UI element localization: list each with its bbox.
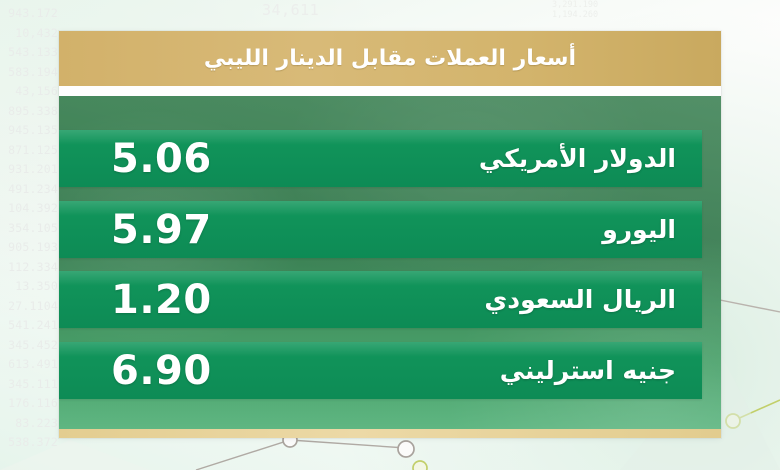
background-number: 871.125 [8, 141, 58, 161]
background-number: 43,156 [15, 82, 58, 102]
rates-list: 5.06 الدولار الأمريكي 5.97 اليورو 1.20 ا… [59, 96, 721, 438]
rate-row: 1.20 الريال السعودي [59, 271, 702, 328]
currency-name: الدولار الأمريكي [479, 146, 702, 171]
background-number: 3,291.190 [552, 0, 598, 10]
background-number: 104.392 [8, 199, 58, 219]
rate-value: 5.06 [59, 139, 212, 179]
background-number: 83.223 [15, 414, 58, 434]
background-left-numbers: 943.17210,432543.133583.19443,156895.338… [0, 0, 58, 470]
currency-name: جنيه استرليني [500, 358, 702, 383]
background-number: 112.334 [8, 258, 58, 278]
background-top-number: 34,611 [262, 1, 319, 19]
rate-row: 6.90 جنيه استرليني [59, 342, 702, 399]
background-number: 895.338 [8, 102, 58, 122]
card-header: أسعار العملات مقابل الدينار الليبي [59, 31, 721, 86]
background-number: 583.194 [8, 63, 58, 83]
background-number: 931.201 [8, 160, 58, 180]
background-number: 345.111 [8, 375, 58, 395]
background-number: 543.133 [8, 43, 58, 63]
background-number: 13.350 [15, 277, 58, 297]
rate-value: 6.90 [59, 351, 212, 391]
rate-value: 5.97 [59, 210, 212, 250]
background-number: 345.452 [8, 336, 58, 356]
currency-rates-card: أسعار العملات مقابل الدينار الليبي 5.06 … [59, 31, 721, 438]
card-footer-strip [59, 429, 721, 438]
background-number: 613.491 [8, 355, 58, 375]
background-top-right-numbers: 3,291.190 1,194.260 [552, 0, 598, 20]
page-title: أسعار العملات مقابل الدينار الليبي [204, 46, 576, 71]
background-number: 1,194.260 [552, 10, 598, 20]
currency-name: الريال السعودي [484, 287, 702, 312]
background-number: 541.241 [8, 316, 58, 336]
rate-row: 5.97 اليورو [59, 201, 702, 258]
background-number: 943.172 [8, 4, 58, 24]
background-number: 354.105 [8, 219, 58, 239]
background-number: 10,432 [15, 24, 58, 44]
rate-value: 1.20 [59, 280, 212, 320]
currency-name: اليورو [602, 217, 702, 242]
background-number: 27.1104 [8, 297, 58, 317]
rate-row: 5.06 الدولار الأمريكي [59, 130, 702, 187]
background-number: 905.193 [8, 238, 58, 258]
background-number: 538.372 [8, 433, 58, 453]
background-number: 491.234 [8, 180, 58, 200]
background-number: 176.116 [8, 394, 58, 414]
background-number: 945.135 [8, 121, 58, 141]
card-gutter [59, 86, 721, 96]
